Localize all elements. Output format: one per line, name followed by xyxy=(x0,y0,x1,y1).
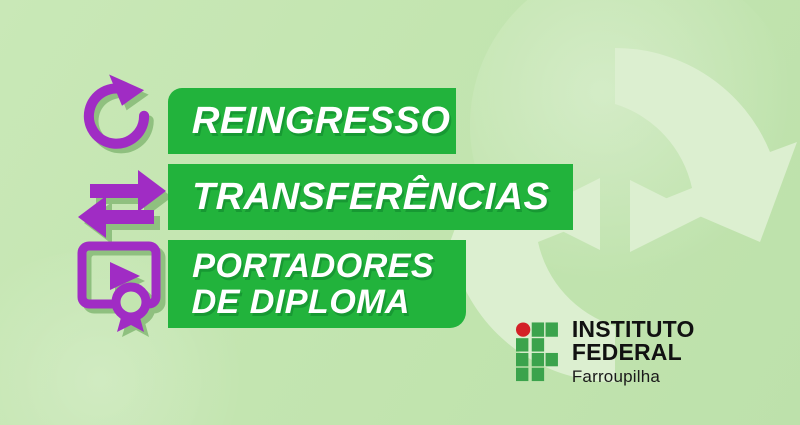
logo-subtitle: Farroupilha xyxy=(572,368,800,385)
label-banner-transferencias[interactable]: TRANSFERÊNCIAS xyxy=(168,164,573,230)
exchange-arrows-icon xyxy=(72,158,172,240)
icon-column xyxy=(74,68,170,334)
refresh-circle-arrow-icon xyxy=(76,68,168,160)
icon-slot-reingresso xyxy=(74,68,170,160)
label-text-reingresso: REINGRESSO xyxy=(192,102,451,141)
diploma-certificate-icon xyxy=(72,238,172,334)
label-banner-portadores-de-diploma[interactable]: PORTADORES DE DIPLOMA xyxy=(168,240,466,328)
icon-slot-transferencias xyxy=(74,160,170,240)
label-text-transferencias: TRANSFERÊNCIAS xyxy=(192,178,550,217)
instituto-federal-farroupilha-logo: INSTITUTO FEDERAL Farroupilha xyxy=(516,318,800,385)
background-highlight-top xyxy=(470,0,800,290)
logo-text-block: INSTITUTO FEDERAL Farroupilha xyxy=(572,318,800,385)
logo-title: INSTITUTO FEDERAL xyxy=(572,318,800,364)
promo-banner: REINGRESSO TRANSFERÊNCIAS PORTADORES DE … xyxy=(0,0,800,425)
icon-slot-portadores xyxy=(74,240,170,334)
label-banner-reingresso[interactable]: REINGRESSO xyxy=(168,88,456,154)
label-text-portadores-de-diploma: PORTADORES DE DIPLOMA xyxy=(191,248,434,320)
if-logo-mark-icon xyxy=(516,321,560,383)
